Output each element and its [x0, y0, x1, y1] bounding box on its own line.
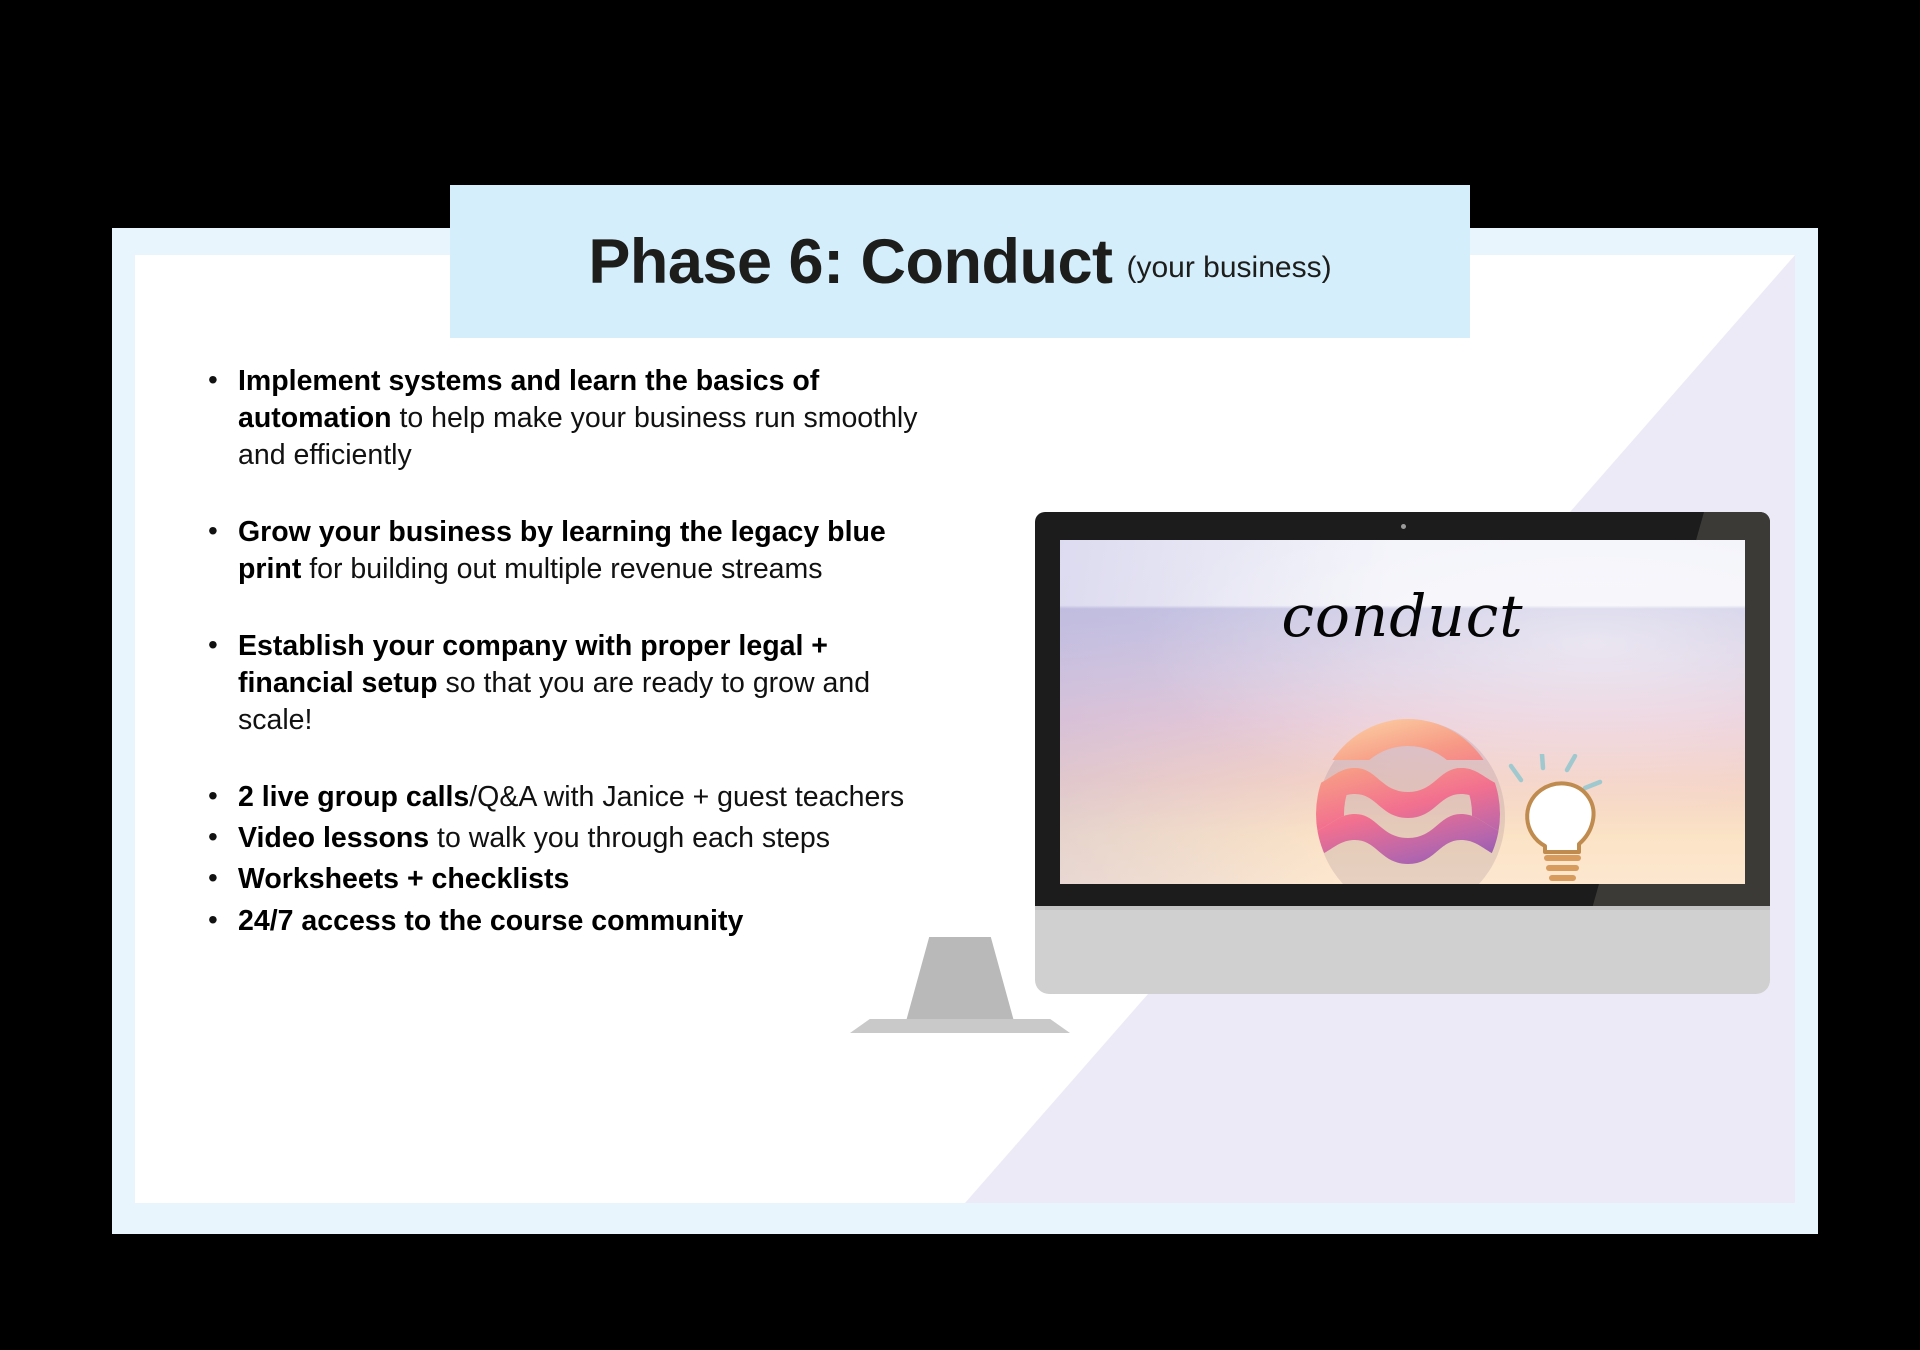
list-item: Establish your company with proper legal… — [200, 628, 920, 739]
list-item: Implement systems and learn the basics o… — [200, 363, 920, 474]
wave-circle-logo — [1293, 716, 1523, 884]
list-item: Grow your business by learning the legac… — [200, 514, 920, 588]
monitor-stand-base — [850, 1019, 1070, 1033]
bullet-rest-text: /Q&A with Janice + guest teachers — [469, 781, 904, 813]
lightbulb-icon — [1499, 754, 1631, 884]
slide-canvas: Phase 6: Conduct (your business) Impleme… — [0, 0, 1920, 1350]
webcam-dot-icon — [1401, 524, 1406, 529]
bullet-bold-text: Worksheets + checklists — [238, 863, 569, 895]
bullet-bold-text: 2 live group calls — [238, 781, 469, 813]
deliverables-group: 2 live group calls/Q&A with Janice + gue… — [200, 779, 920, 939]
page-subtitle: (your business) — [1127, 251, 1332, 285]
desktop-monitor-illustration: conduct — [1035, 512, 1770, 937]
bullet-content: Implement systems and learn the basics o… — [200, 363, 920, 944]
list-item: 24/7 access to the course community — [200, 903, 920, 940]
page-title: Phase 6: Conduct — [588, 226, 1112, 298]
bullet-bold-text: 24/7 access to the course community — [238, 905, 743, 937]
bullet-rest-text: for building out multiple revenue stream… — [301, 553, 822, 585]
bullet-rest-text: to walk you through each steps — [429, 822, 830, 854]
bullet-bold-text: Video lessons — [238, 822, 429, 854]
bullet-group-1: Implement systems and learn the basics o… — [200, 363, 920, 474]
monitor-chin — [1035, 906, 1770, 994]
monitor-screen: conduct — [1060, 540, 1745, 884]
list-item: Video lessons to walk you through each s… — [200, 820, 920, 857]
bullet-group-2: Grow your business by learning the legac… — [200, 514, 920, 588]
monitor-chin-highlight — [1035, 906, 1770, 910]
list-item: Worksheets + checklists — [200, 861, 920, 898]
title-banner: Phase 6: Conduct (your business) — [450, 185, 1470, 338]
bullet-group-3: Establish your company with proper legal… — [200, 628, 920, 739]
list-item: 2 live group calls/Q&A with Janice + gue… — [200, 779, 920, 816]
